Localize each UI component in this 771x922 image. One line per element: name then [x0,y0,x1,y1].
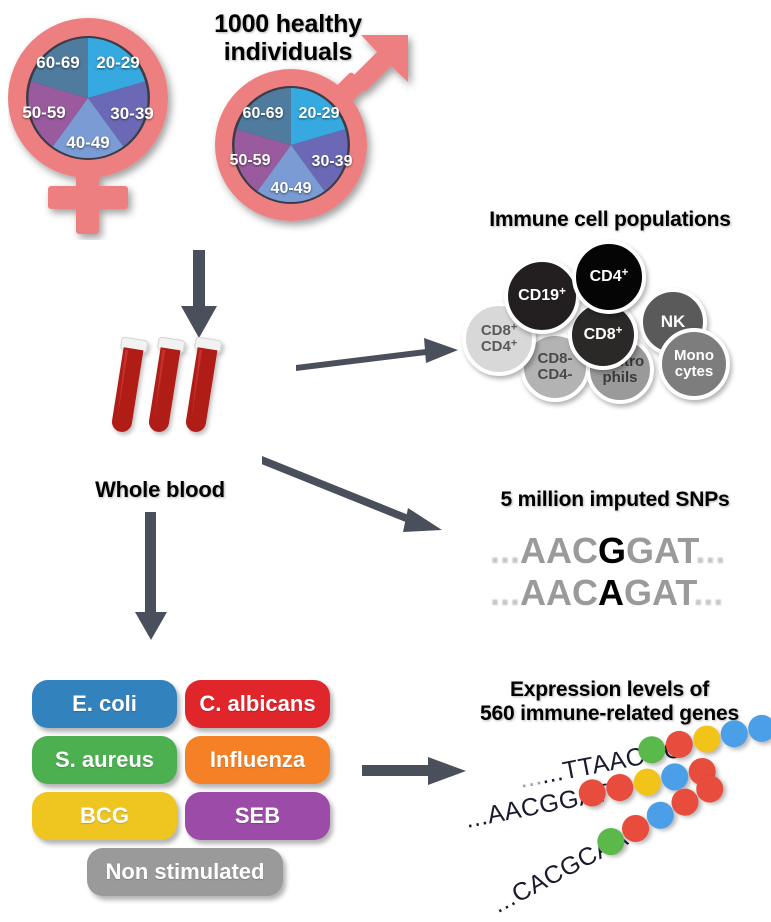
immune-cell-cd4-positive: CD4+ [572,240,646,314]
title-immune-cell-populations: Immune cell populations [460,208,760,232]
stimulus-c-albicans[interactable]: C. albicans [185,680,330,728]
title-expression-levels: Expression levels of 560 immune-related … [452,678,767,725]
immune-cell-label-nk: NK [661,313,686,331]
female-age-pie [29,38,148,158]
stimulus-influenza[interactable]: Influenza [185,736,330,784]
stimulus-label-non-stimulated: Non stimulated [106,859,265,885]
stimulus-label-bcg: BCG [80,803,129,829]
male-age-pie [234,88,347,202]
stimulus-label-c-albicans: C. albicans [199,691,315,717]
stimulus-bcg[interactable]: BCG [32,792,177,840]
immune-cell-label-cd8-cd4-positive: CD8+CD4+ [481,323,517,354]
snp-left-2: AAC [520,572,598,613]
immune-cell-label-cd8-positive: CD8+ [584,327,623,344]
expression-bead-2-3 [631,766,663,798]
male-symbol: 20-29 30-39 40-49 50-59 60-69 [205,30,435,245]
arrow-blood-to-immune [296,325,466,375]
snp-prefix-2: ... [490,572,520,613]
stimulus-label-influenza: Influenza [210,747,305,773]
snp-variant-2: A [598,572,624,613]
snp-right-2: GAT [624,572,693,613]
stimulus-label-seb: SEB [235,803,280,829]
immune-cell-label-cd4-positive: CD4+ [590,269,629,286]
immune-cell-cluster: CD4+ CD19+ NK CD8+ CD8+CD4+ CD8-CD4- Neu… [462,240,762,405]
immune-cell-label-cd8-cd4-negative: CD8-CD4- [537,351,572,382]
snp-left-1: AAC [520,530,598,571]
stimulus-e-coli[interactable]: E. coli [32,680,177,728]
snp-right-1: GAT [626,530,695,571]
label-whole-blood: Whole blood [80,478,240,503]
expression-bead-1-3 [691,723,723,755]
expression-bead-1-4 [718,718,750,750]
stimulus-seb[interactable]: SEB [185,792,330,840]
snp-suffix-2: ... [693,572,723,613]
immune-cell-label-cd19-positive: CD19+ [518,288,566,305]
title-imputed-snps: 5 million imputed SNPs [470,488,760,512]
arrow-blood-to-snp [262,452,462,552]
snp-suffix-1: ... [695,530,725,571]
expression-strand-group: ... ...TTAACGG ...AACGGAT ...CACGCAA [440,740,771,915]
blood-tubes [100,330,230,450]
snp-sequence-row-2: ...AACAGAT... [490,572,723,614]
immune-cell-cd19-positive: CD19+ [504,258,580,334]
arrow-cohort-to-blood [172,250,226,340]
snp-prefix-1: ... [490,530,520,571]
immune-cell-monocytes: Monocytes [658,328,730,400]
snp-variant-1: G [598,530,626,571]
figure-canvas: 1000 healthy individuals [0,0,771,922]
stimulus-label-s-aureus: S. aureus [55,747,154,773]
title-expression-line-1: Expression levels of [452,678,767,702]
stimulus-s-aureus[interactable]: S. aureus [32,736,177,784]
snp-sequence-row-1: ...AACGGAT... [490,530,725,572]
immune-cell-label-monocytes: Monocytes [674,348,714,379]
female-symbol: 20-29 30-39 40-49 50-59 60-69 [8,10,198,240]
stimulus-label-e-coli: E. coli [72,691,137,717]
expression-bead-1-5 [746,713,771,745]
title-expression-line-2: 560 immune-related genes [452,702,767,726]
stimulus-non-stimulated[interactable]: Non stimulated [87,848,283,896]
arrow-blood-to-stimuli [128,512,178,642]
